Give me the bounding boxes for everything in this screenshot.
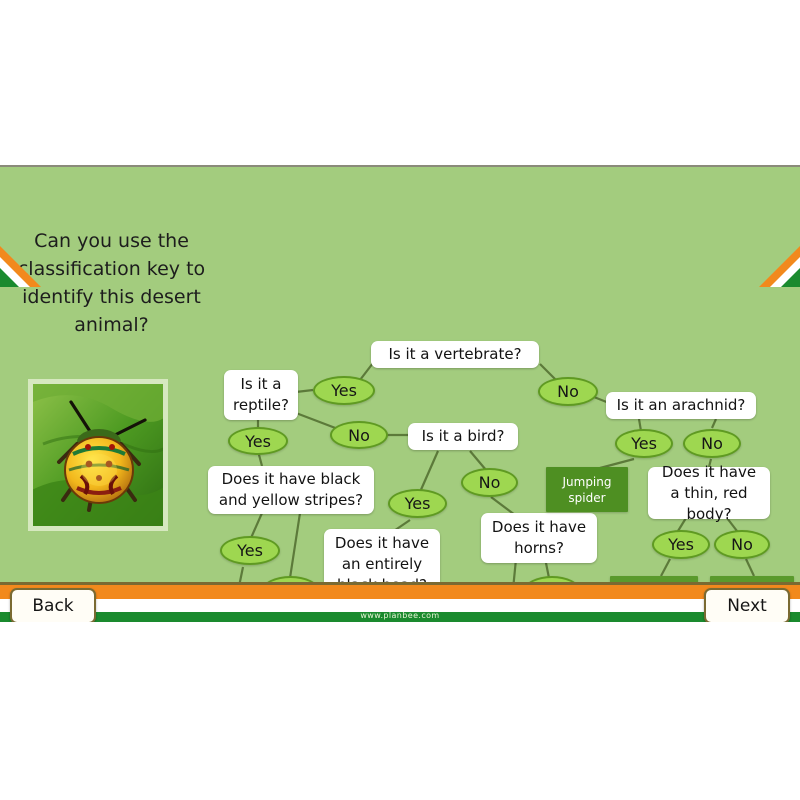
slide-canvas: Can you use the classification key to id… <box>0 165 800 622</box>
answer-no-reptile[interactable]: No <box>330 421 388 449</box>
question-black-and-yellow-stripes[interactable]: Does it have black and yellow stripes? <box>208 466 374 514</box>
answer-yes-vertebrate[interactable]: Yes <box>313 376 375 405</box>
next-button[interactable]: Next <box>704 588 790 622</box>
answer-yes-arachnid[interactable]: Yes <box>615 429 673 458</box>
question-does-it-have-horns[interactable]: Does it have horns? <box>481 513 597 563</box>
answer-no-red-body[interactable]: No <box>714 530 770 559</box>
question-is-it-a-reptile[interactable]: Is it a reptile? <box>224 370 298 420</box>
back-button[interactable]: Back <box>10 588 96 622</box>
answer-no-vertebrate[interactable]: No <box>538 377 598 406</box>
answer-no-bird[interactable]: No <box>461 468 518 497</box>
question-is-it-a-bird[interactable]: Is it a bird? <box>408 423 518 450</box>
answer-yes-red-body[interactable]: Yes <box>652 530 710 559</box>
question-thin-red-body[interactable]: Does it have a thin, red body? <box>648 467 770 519</box>
site-url: www.planbee.com <box>0 611 800 620</box>
navigation-bar: www.planbee.com Back Next <box>0 582 800 622</box>
answer-yes-stripes[interactable]: Yes <box>220 536 280 565</box>
leaf-jumping-spider[interactable]: Jumping spider <box>546 467 628 512</box>
question-is-it-a-vertebrate[interactable]: Is it a vertebrate? <box>371 341 539 368</box>
answer-yes-reptile[interactable]: Yes <box>228 427 288 455</box>
answer-no-arachnid[interactable]: No <box>683 429 741 458</box>
stripe-saffron <box>0 585 800 599</box>
question-is-it-an-arachnid[interactable]: Is it an arachnid? <box>606 392 756 419</box>
classification-key-chart: Is it a vertebrate? Is it a reptile? Doe… <box>0 167 800 622</box>
answer-yes-bird[interactable]: Yes <box>388 489 447 518</box>
